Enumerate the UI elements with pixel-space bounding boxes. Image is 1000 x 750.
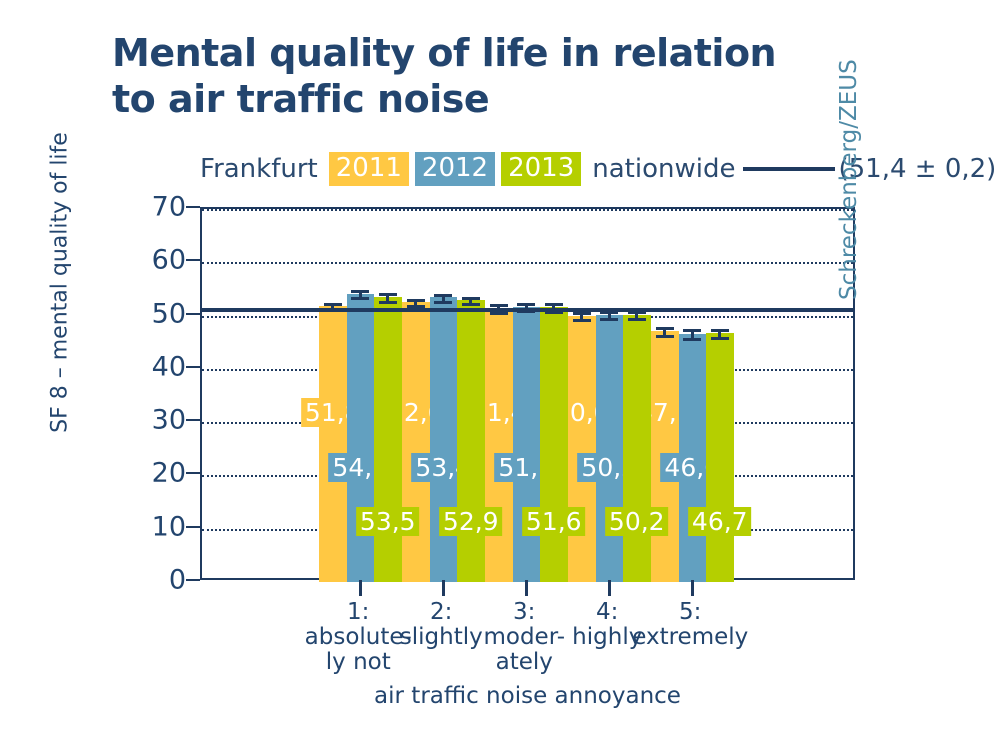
bar-2012-cat1[interactable]: [347, 294, 375, 582]
legend-reference-line-swatch: [743, 167, 835, 171]
y-tick-label-70: 70: [152, 194, 186, 221]
error-cap-lower-2011-cat4: [573, 319, 591, 322]
bar-2012-cat2[interactable]: [430, 297, 458, 582]
x-category-label-5: 5: extremely: [625, 600, 755, 650]
x-tick-mark-5: [691, 580, 694, 596]
error-cap-lower-2012-cat2: [434, 301, 452, 304]
page-title: Mental quality of life in relation to ai…: [112, 30, 812, 122]
legend-prefix-frankfurt: Frankfurt: [200, 154, 318, 184]
error-cap-lower-2011-cat3: [490, 312, 508, 315]
error-cap-upper-2011-cat3: [490, 304, 508, 307]
error-cap-upper-2013-cat5: [711, 329, 729, 332]
y-tick-mark-60: [186, 259, 200, 261]
error-cap-upper-2012-cat5: [683, 329, 701, 332]
y-tick-mark-20: [186, 472, 200, 474]
x-tick-mark-2: [442, 580, 445, 596]
bar-2012-cat3[interactable]: [513, 307, 541, 582]
y-tick-label-0: 0: [169, 567, 186, 594]
legend-reference-value: (51,4 ± 0,2): [838, 154, 996, 184]
gridline-70: [202, 209, 853, 211]
bar-2011-cat3[interactable]: [485, 308, 513, 582]
legend-chip-2013[interactable]: 2013: [501, 152, 581, 186]
y-tick-label-10: 10: [152, 513, 186, 540]
y-tick-mark-70: [186, 206, 200, 208]
error-cap-upper-2013-cat2: [462, 297, 480, 300]
y-tick-label-60: 60: [152, 247, 186, 274]
error-cap-lower-2013-cat1: [379, 301, 397, 304]
value-label-2013-cat5: 46,7: [688, 507, 752, 536]
chart-plot-area: 51,852,651,450,047,154,153,451,750,246,6…: [200, 207, 855, 580]
x-tick-mark-1: [359, 580, 362, 596]
legend-chip-2011[interactable]: 2011: [329, 152, 409, 186]
error-cap-upper-2012-cat1: [351, 290, 369, 293]
bar-2013-cat2[interactable]: [457, 300, 485, 582]
error-cap-lower-2012-cat1: [351, 297, 369, 300]
source-credit: Schreckenberg/ZEUS: [836, 0, 862, 300]
error-cap-upper-2013-cat1: [379, 293, 397, 296]
y-tick-mark-50: [186, 313, 200, 315]
reference-line-nationwide: [202, 308, 853, 312]
bar-2013-cat3[interactable]: [540, 307, 568, 582]
x-axis-category-labels: 1: absolute- ly not2: slightly3: moder- …: [200, 600, 855, 680]
y-tick-mark-0: [186, 579, 200, 581]
bar-2011-cat2[interactable]: [402, 302, 430, 582]
bar-2011-cat1[interactable]: [319, 306, 347, 582]
plot-inner: 51,852,651,450,047,154,153,451,750,246,6…: [202, 209, 853, 578]
y-tick-mark-30: [186, 419, 200, 421]
error-cap-lower-2012-cat5: [683, 338, 701, 341]
error-cap-upper-2011-cat1: [324, 303, 342, 306]
x-axis-tick-marks: [200, 580, 855, 596]
value-label-2013-cat4: 50,2: [605, 507, 669, 536]
y-axis-tick-marks: [186, 207, 200, 580]
value-label-2013-cat3: 51,6: [522, 507, 586, 536]
y-tick-label-20: 20: [152, 460, 186, 487]
legend-chip-2012[interactable]: 2012: [415, 152, 495, 186]
error-cap-upper-2011-cat5: [656, 327, 674, 330]
x-tick-mark-3: [525, 580, 528, 596]
y-tick-mark-10: [186, 526, 200, 528]
error-cap-lower-2013-cat4: [628, 318, 646, 321]
value-label-2013-cat2: 52,9: [439, 507, 503, 536]
gridline-60: [202, 262, 853, 264]
legend-label-nationwide: nationwide: [592, 154, 735, 184]
chart-legend: Frankfurt 2011 2012 2013 nationwide (51,…: [200, 152, 996, 186]
error-cap-upper-2012-cat3: [517, 303, 535, 306]
error-cap-lower-2012-cat4: [600, 318, 618, 321]
error-cap-lower-2013-cat5: [711, 337, 729, 340]
error-cap-upper-2012-cat2: [434, 294, 452, 297]
y-tick-mark-40: [186, 366, 200, 368]
error-cap-upper-2013-cat3: [545, 303, 563, 306]
x-axis-title: air traffic noise annoyance: [200, 683, 855, 709]
bar-2011-cat4[interactable]: [568, 316, 596, 582]
y-axis-tick-labels: 010203040506070: [140, 207, 186, 580]
error-cap-upper-2011-cat2: [407, 299, 425, 302]
y-axis-title: SF 8 – mental quality of life: [48, 73, 73, 493]
error-cap-lower-2013-cat2: [462, 303, 480, 306]
y-tick-label-40: 40: [152, 353, 186, 380]
bar-2013-cat1[interactable]: [374, 297, 402, 582]
bar-2013-cat5[interactable]: [706, 333, 734, 582]
y-tick-label-30: 30: [152, 407, 186, 434]
x-tick-mark-4: [608, 580, 611, 596]
error-cap-lower-2011-cat5: [656, 335, 674, 338]
bar-2012-cat4[interactable]: [596, 315, 624, 582]
value-label-2013-cat1: 53,5: [356, 507, 420, 536]
error-cap-upper-2011-cat4: [573, 312, 591, 315]
y-tick-label-50: 50: [152, 300, 186, 327]
bar-2013-cat4[interactable]: [623, 315, 651, 582]
